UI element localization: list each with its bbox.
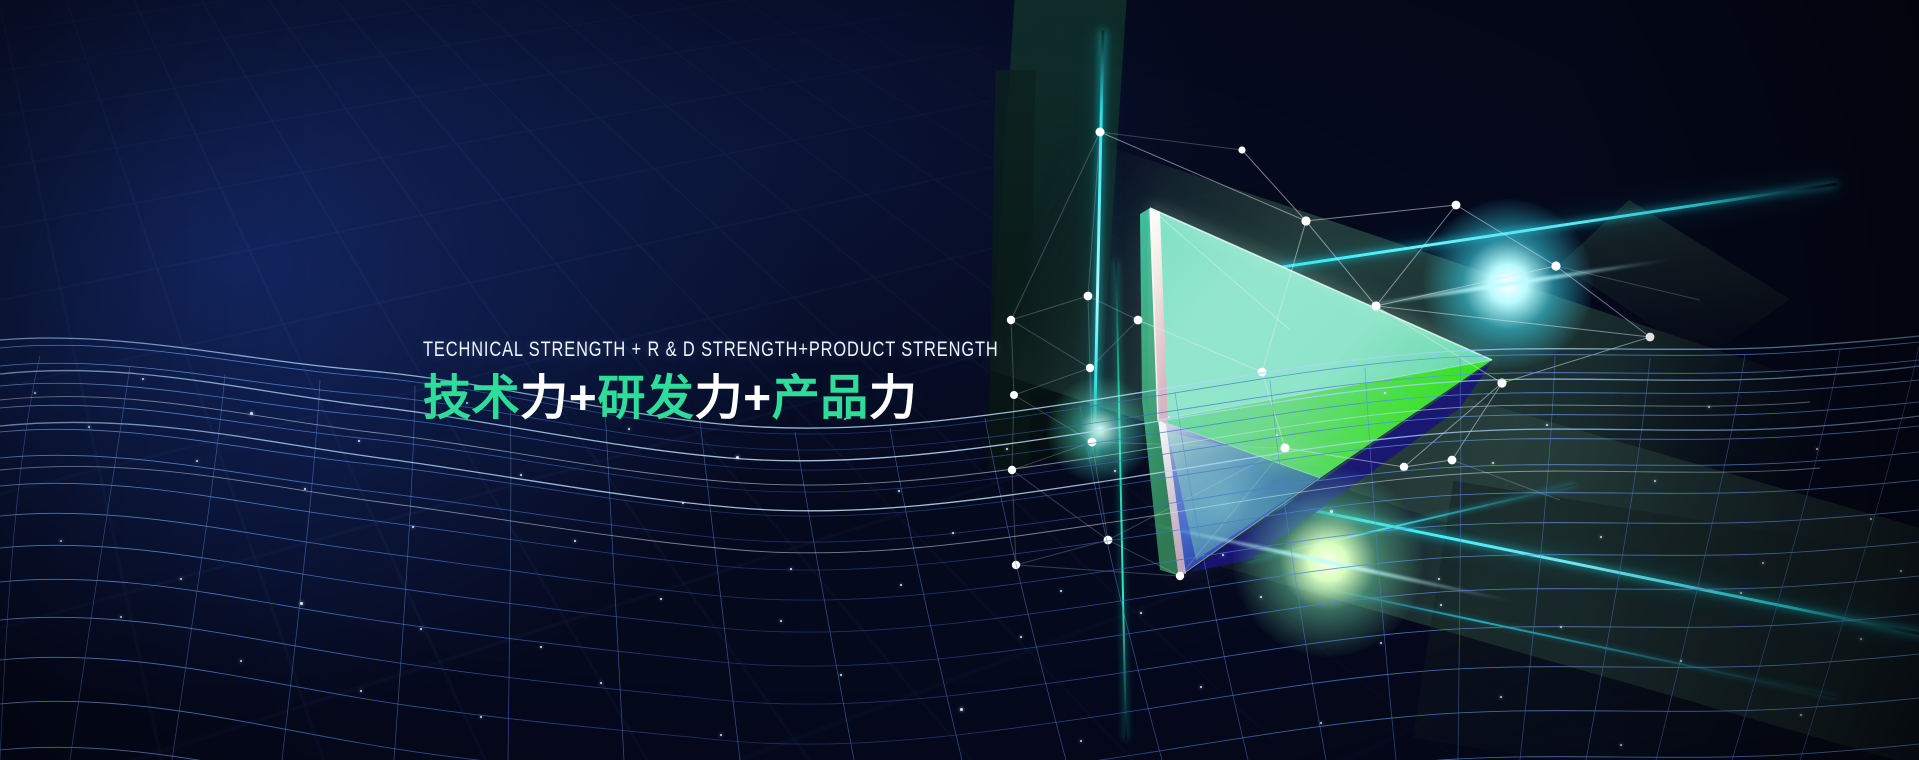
hero-eyebrow-text: TECHNICAL STRENGTH + R & D STRENGTH+PROD… (423, 338, 999, 362)
headline-segment-2: 力 (520, 372, 569, 425)
headline-segment-4: 研发 (597, 372, 694, 425)
headline-segment-7: 产品 (772, 372, 869, 425)
headline-segment-5: 力 (695, 372, 744, 425)
headline-segment-1: 技术 (423, 372, 520, 425)
hero-headline: 技术力+研发力+产品力 (423, 371, 1161, 427)
hero-banner: TECHNICAL STRENGTH + R & D STRENGTH+PROD… (0, 0, 1919, 760)
headline-segment-6: + (743, 372, 772, 425)
hero-copy-block: TECHNICAL STRENGTH + R & D STRENGTH+PROD… (423, 338, 1161, 427)
headline-segment-8: 力 (869, 372, 918, 425)
headline-segment-3: + (569, 372, 598, 425)
